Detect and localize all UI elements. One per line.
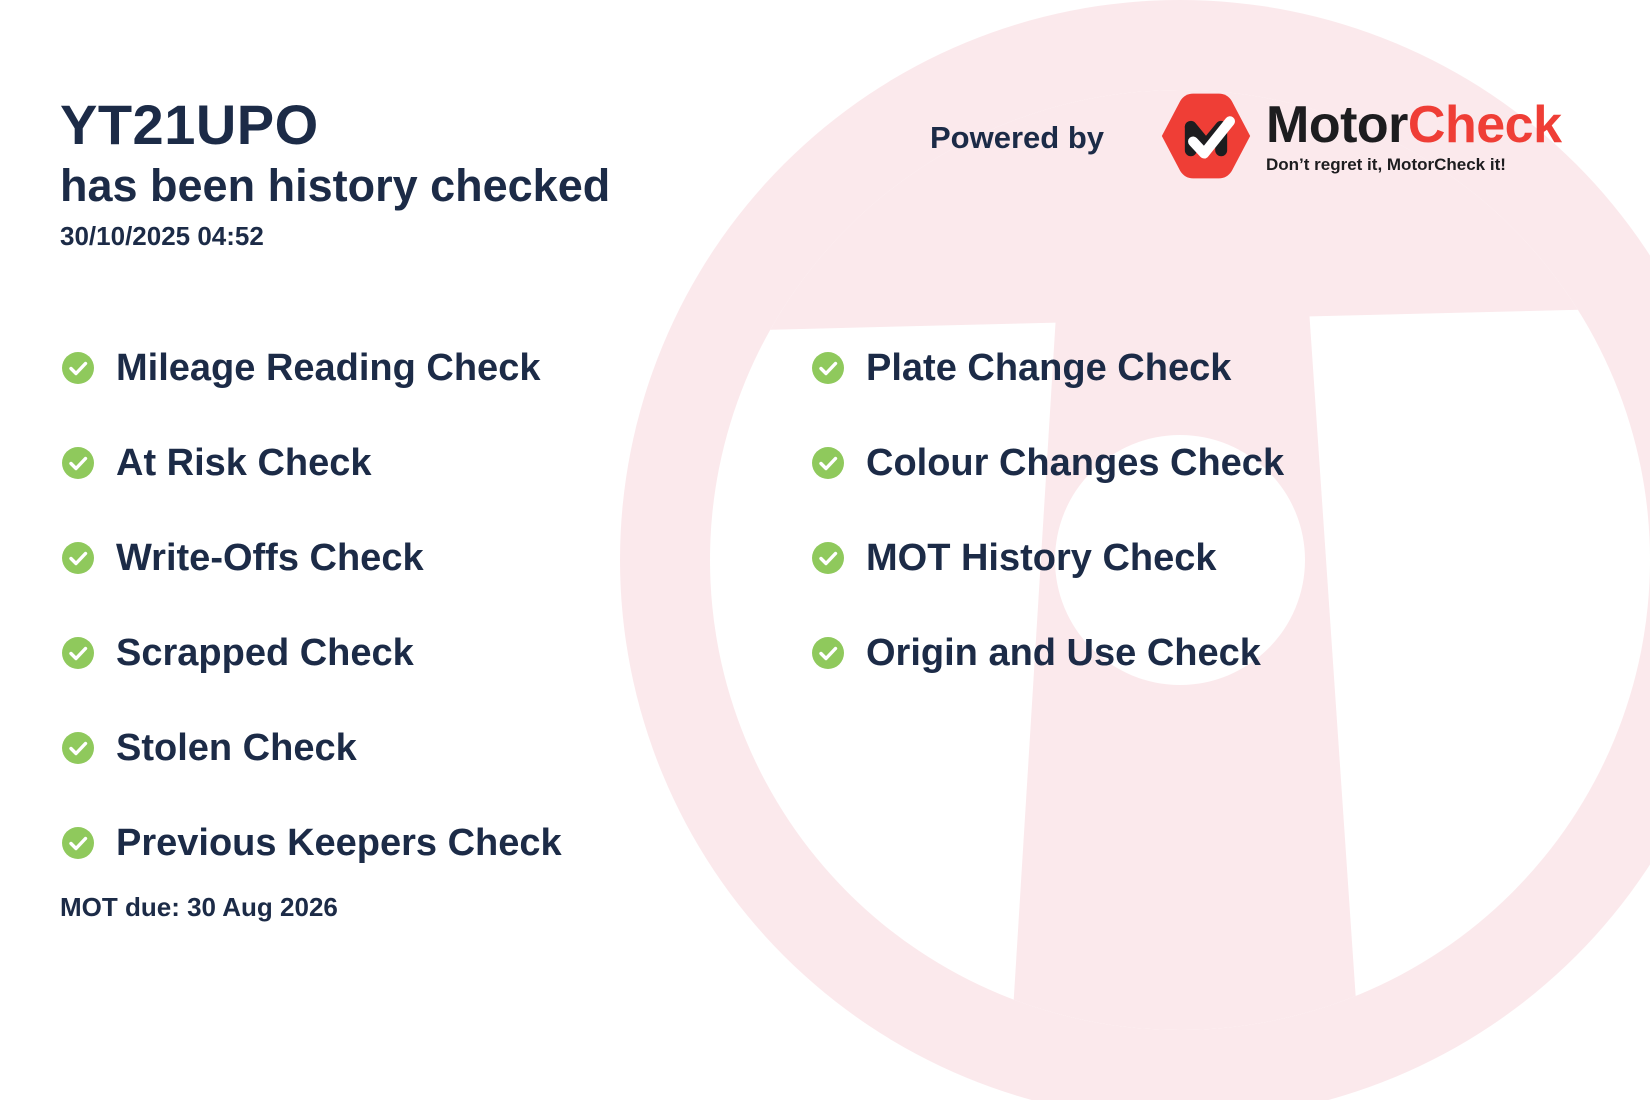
check-circle-icon bbox=[62, 447, 94, 479]
check-label: Write-Offs Check bbox=[116, 539, 424, 577]
check-circle-icon bbox=[62, 827, 94, 859]
check-timestamp: 30/10/2025 04:52 bbox=[60, 221, 610, 252]
wordmark-check: Check bbox=[1408, 96, 1562, 154]
list-item: Write-Offs Check bbox=[62, 510, 782, 605]
check-label: Colour Changes Check bbox=[866, 444, 1284, 482]
list-item: Origin and Use Check bbox=[812, 605, 1512, 700]
list-item: At Risk Check bbox=[62, 415, 782, 510]
list-item: Colour Changes Check bbox=[812, 415, 1512, 510]
motorcheck-hexagon-icon bbox=[1160, 90, 1252, 182]
mot-due-date: MOT due: 30 Aug 2026 bbox=[60, 892, 338, 923]
check-label: Origin and Use Check bbox=[866, 634, 1261, 672]
check-label: Mileage Reading Check bbox=[116, 349, 540, 387]
motorcheck-logo[interactable]: MotorCheck Don’t regret it, MotorCheck i… bbox=[1160, 90, 1561, 182]
list-item: Stolen Check bbox=[62, 700, 782, 795]
powered-by-label: Powered by bbox=[930, 120, 1104, 156]
check-label: MOT History Check bbox=[866, 539, 1217, 577]
checks-column-left: Mileage Reading Check At Risk Check Writ… bbox=[62, 320, 782, 890]
check-circle-icon bbox=[62, 542, 94, 574]
logo-wordmark-block: MotorCheck Don’t regret it, MotorCheck i… bbox=[1266, 99, 1561, 173]
check-circle-icon bbox=[62, 732, 94, 764]
check-circle-icon bbox=[812, 542, 844, 574]
check-label: Scrapped Check bbox=[116, 634, 414, 672]
check-circle-icon bbox=[62, 637, 94, 669]
check-label: At Risk Check bbox=[116, 444, 372, 482]
vehicle-registration-plate: YT21UPO bbox=[60, 96, 610, 155]
list-item: MOT History Check bbox=[812, 510, 1512, 605]
check-circle-icon bbox=[812, 637, 844, 669]
list-item: Scrapped Check bbox=[62, 605, 782, 700]
list-item: Mileage Reading Check bbox=[62, 320, 782, 415]
logo-wordmark: MotorCheck bbox=[1266, 99, 1561, 151]
check-label: Plate Change Check bbox=[866, 349, 1231, 387]
vehicle-history-check-card: YT21UPO has been history checked 30/10/2… bbox=[0, 0, 1650, 1100]
check-label: Stolen Check bbox=[116, 729, 357, 767]
check-circle-icon bbox=[62, 352, 94, 384]
check-circle-icon bbox=[812, 352, 844, 384]
checks-column-right: Plate Change Check Colour Changes Check … bbox=[812, 320, 1512, 700]
list-item: Previous Keepers Check bbox=[62, 795, 782, 890]
check-label: Previous Keepers Check bbox=[116, 824, 562, 862]
check-circle-icon bbox=[812, 447, 844, 479]
wordmark-motor: Motor bbox=[1266, 96, 1408, 154]
page-title: has been history checked bbox=[60, 159, 610, 213]
list-item: Plate Change Check bbox=[812, 320, 1512, 415]
header-block: YT21UPO has been history checked 30/10/2… bbox=[60, 96, 610, 252]
logo-tagline: Don’t regret it, MotorCheck it! bbox=[1266, 156, 1561, 173]
